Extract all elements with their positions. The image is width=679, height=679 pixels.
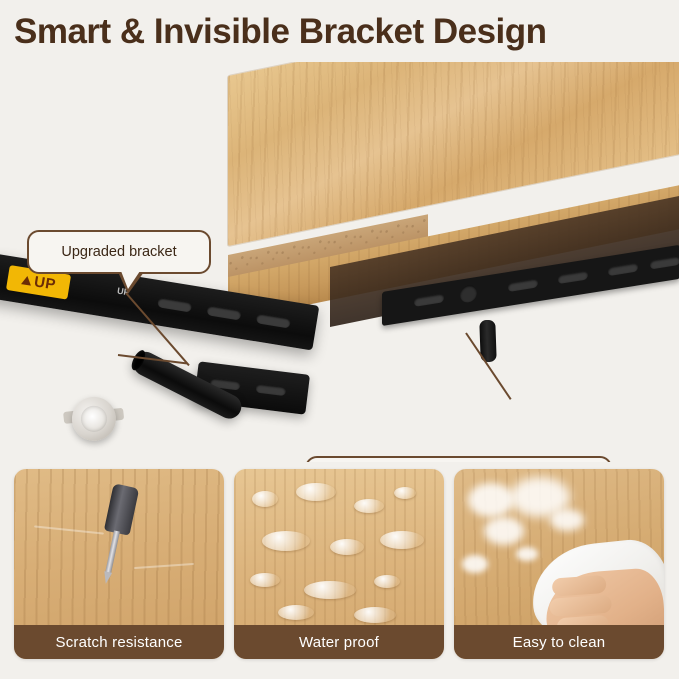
screwdriver-tip bbox=[102, 571, 112, 584]
water-drop-icon bbox=[296, 483, 336, 501]
card-label: Easy to clean bbox=[454, 625, 664, 659]
bracket-slot bbox=[414, 293, 444, 307]
scratch-mark bbox=[34, 525, 104, 534]
bracket-slot bbox=[608, 262, 638, 276]
water-drop-icon bbox=[262, 531, 310, 551]
bracket-slot bbox=[508, 278, 538, 292]
scratch-mark bbox=[134, 563, 194, 569]
bracket-slot bbox=[206, 305, 241, 320]
callout-upgraded-bracket: Upgraded bracket bbox=[27, 230, 211, 274]
card-label: Water proof bbox=[234, 625, 444, 659]
feature-card-easy-to-clean[interactable]: Easy to clean bbox=[454, 469, 664, 659]
bracket-slot bbox=[157, 297, 192, 312]
bracket-slot bbox=[650, 256, 679, 270]
product-infographic: Smart & Invisible Bracket Design bbox=[0, 0, 679, 679]
feature-card-row: Scratch resistance Water proof bbox=[14, 469, 665, 659]
callout-text: Upgraded bracket bbox=[61, 244, 176, 260]
feature-card-scratch-resistance[interactable]: Scratch resistance bbox=[14, 469, 224, 659]
screwdriver-icon bbox=[91, 482, 143, 579]
hero-illustration: UP UP Upgraded bracket bbox=[0, 62, 679, 462]
water-drop-icon bbox=[354, 607, 396, 623]
water-drop-icon bbox=[374, 575, 400, 588]
powder-splash bbox=[516, 547, 538, 561]
screwdriver-shaft bbox=[105, 530, 120, 576]
water-drop-icon bbox=[304, 581, 356, 599]
powder-splash bbox=[468, 483, 514, 517]
up-arrow-icon bbox=[21, 275, 32, 285]
powder-splash bbox=[484, 517, 524, 545]
water-drop-icon bbox=[252, 491, 278, 507]
screwdriver-handle bbox=[104, 483, 139, 535]
water-drop-icon bbox=[250, 573, 280, 587]
page-title: Smart & Invisible Bracket Design bbox=[14, 12, 669, 52]
bracket-slot bbox=[256, 313, 291, 328]
callout-cross-mixed-holes: Cross-mixed holes-more stability bbox=[305, 456, 612, 462]
card-label: Scratch resistance bbox=[14, 625, 224, 659]
powder-splash bbox=[462, 555, 488, 573]
finger bbox=[552, 575, 607, 597]
wall-anchor-plug bbox=[70, 391, 135, 447]
callout-tail-fill bbox=[121, 271, 140, 289]
powder-splash bbox=[550, 509, 584, 531]
bracket-slot bbox=[255, 384, 286, 397]
finger bbox=[549, 595, 612, 617]
water-drop-icon bbox=[330, 539, 364, 555]
water-drop-icon bbox=[354, 499, 384, 513]
bracket-hole bbox=[460, 284, 477, 304]
water-drop-icon bbox=[278, 605, 314, 620]
bracket-slot bbox=[558, 270, 588, 284]
feature-card-water-proof[interactable]: Water proof bbox=[234, 469, 444, 659]
water-drop-icon bbox=[394, 487, 416, 499]
up-label-text: UP bbox=[33, 273, 57, 293]
water-drop-icon bbox=[380, 531, 424, 549]
